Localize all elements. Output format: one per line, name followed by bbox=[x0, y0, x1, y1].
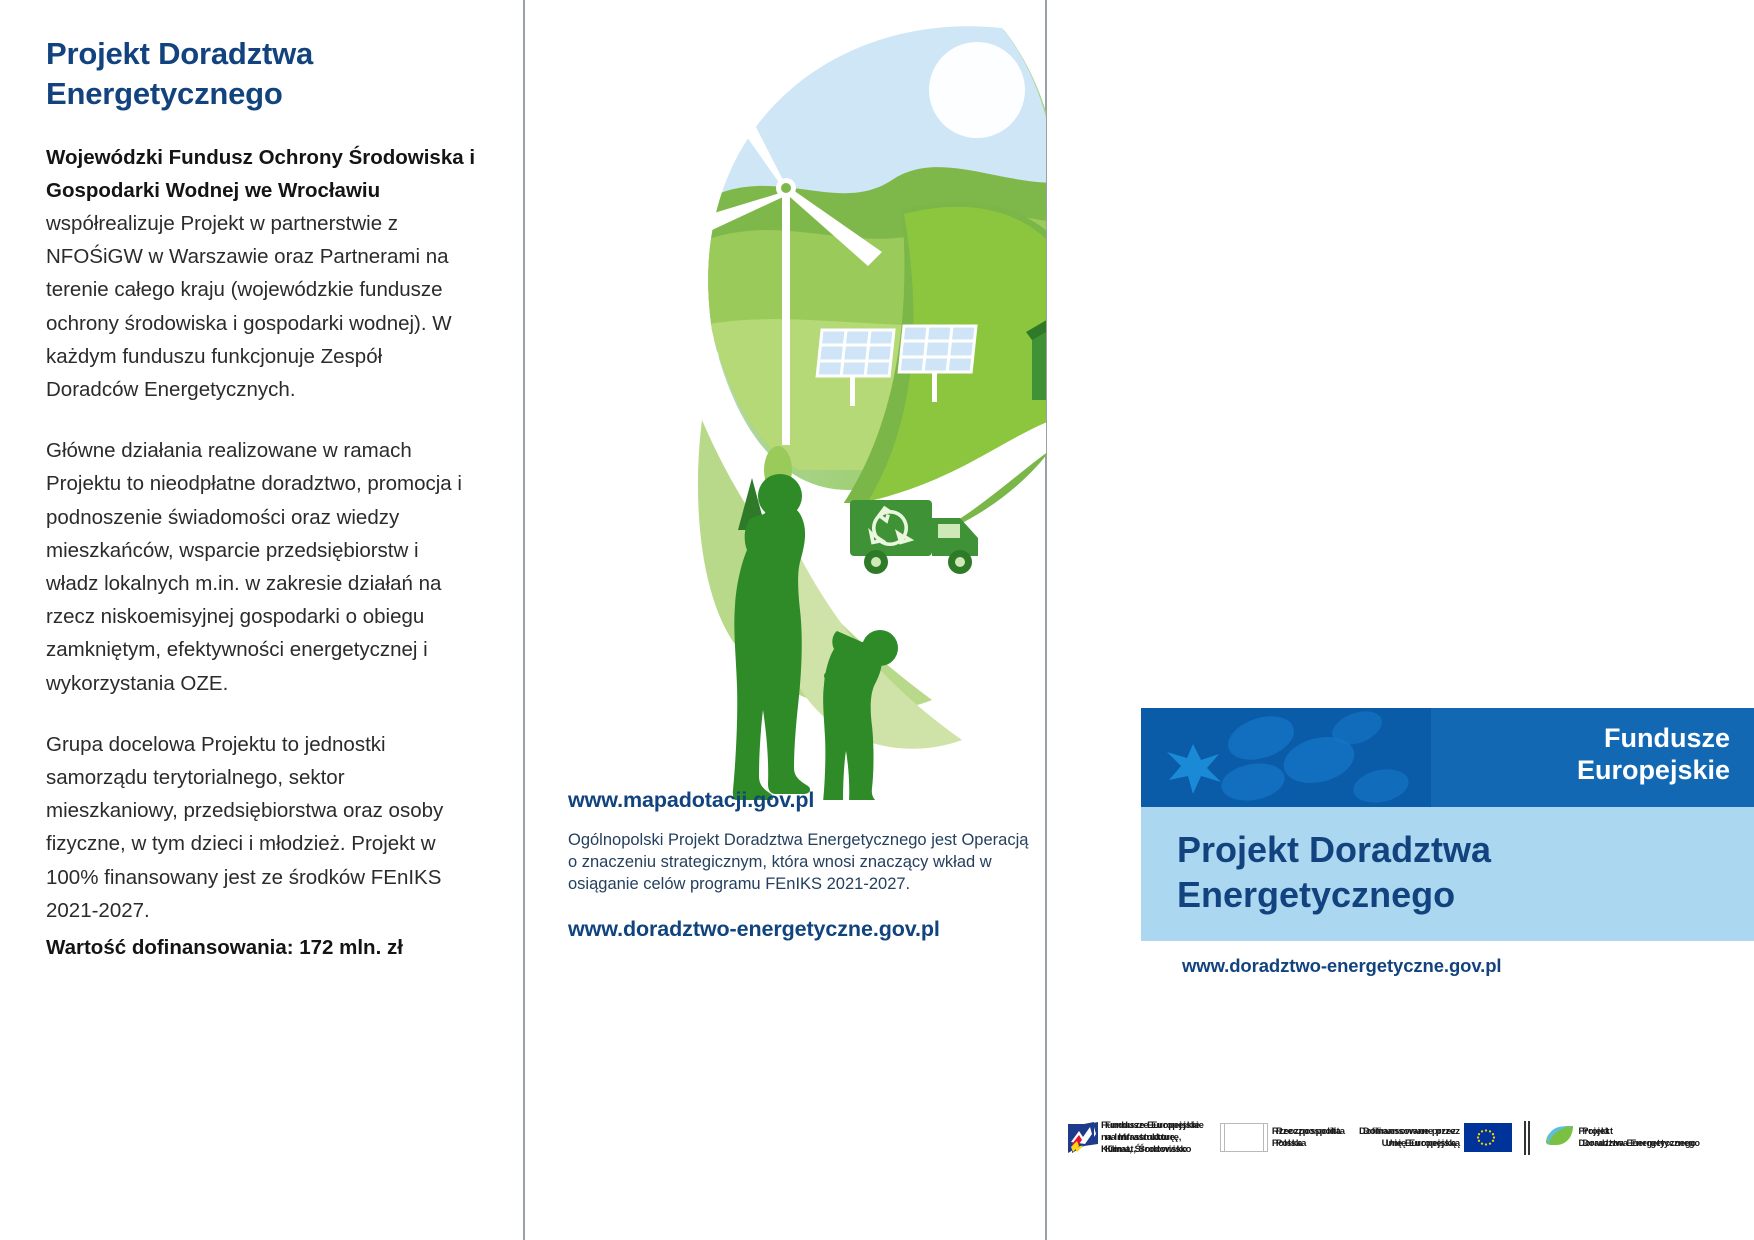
right-column: Fundusze Europejskie Projekt Doradztwa E… bbox=[1047, 0, 1754, 1240]
pde-text-line1-right: Projekt bbox=[1579, 1126, 1610, 1136]
pl-text-line2-right: Polska bbox=[1272, 1138, 1303, 1149]
page-title: Projekt Doradztwa Energetycznego bbox=[46, 34, 476, 115]
logo-pde-text-right: Projekt Doradztwa Energetycznego bbox=[1579, 1126, 1697, 1149]
project-title-line1: Projekt Doradztwa bbox=[1177, 829, 1491, 870]
link-doradztwo-middle[interactable]: www.doradztwo-energetyczne.gov.pl bbox=[568, 917, 1038, 942]
right-logo-strip: Fundusze Europejskie na Infrastrukturę, … bbox=[1068, 1120, 1696, 1155]
banner-title: Fundusze Europejskie bbox=[1577, 723, 1730, 787]
funding-value: Wartość dofinansowania: 172 mln. zł bbox=[46, 931, 476, 964]
paragraph-intro-bold: Wojewódzki Fundusz Ochrony Środowiska i … bbox=[46, 146, 475, 202]
logo-eu-text-right: Dofinansowane przez Unię Europejską bbox=[1359, 1126, 1456, 1150]
middle-column: www.mapadotacji.gov.pl Ogólnopolski Proj… bbox=[524, 0, 1046, 1240]
poland-flag-icon-right bbox=[1220, 1123, 1264, 1152]
paragraph-target-group: Grupa docelowa Projektu to jednostki sam… bbox=[46, 728, 476, 927]
middle-text-block: www.mapadotacji.gov.pl Ogólnopolski Proj… bbox=[568, 788, 1038, 942]
link-mapadotacji[interactable]: www.mapadotacji.gov.pl bbox=[568, 788, 1038, 813]
link-doradztwo-right[interactable]: www.doradztwo-energetyczne.gov.pl bbox=[1182, 955, 1501, 977]
fe-flag-icon-right bbox=[1068, 1122, 1094, 1153]
logo-projekt-doradztwa-right: Projekt Doradztwa Energetycznego bbox=[1542, 1123, 1697, 1153]
paragraph-intro: Wojewódzki Fundusz Ochrony Środowiska i … bbox=[46, 141, 476, 407]
logo-rzeczpospolita-polska-right: Rzeczpospolita Polska bbox=[1220, 1123, 1341, 1152]
eu-flag-icon-right bbox=[1464, 1123, 1508, 1152]
fe-text-line3-right: Klimat, Środowisko bbox=[1101, 1144, 1187, 1155]
paragraph-intro-rest: współrealizuje Projekt w partnerstwie z … bbox=[46, 212, 452, 401]
logo-european-union-right: Dofinansowane przez Unię Europejską bbox=[1359, 1123, 1508, 1152]
fe-text-line1-right: Fundusze Europejskie bbox=[1101, 1120, 1200, 1131]
banner-title-line2: Europejskie bbox=[1577, 755, 1730, 785]
left-column: Projekt Doradztwa Energetycznego Wojewód… bbox=[46, 34, 476, 964]
eu-text-line2-right: Unię Europejską bbox=[1382, 1138, 1456, 1149]
logo-pl-text-right: Rzeczpospolita Polska bbox=[1272, 1126, 1341, 1150]
energy-illustration bbox=[532, 0, 1046, 800]
project-title-line2: Energetycznego bbox=[1177, 874, 1455, 915]
pde-leaf-icon-right bbox=[1542, 1123, 1572, 1153]
fundusze-europejskie-banner: Fundusze Europejskie bbox=[1141, 708, 1754, 807]
fe-text-line2-right: na Infrastrukturę, bbox=[1101, 1132, 1177, 1143]
brochure-page: Projekt Doradztwa Energetycznego Wojewód… bbox=[0, 0, 1754, 1240]
pde-text-line2-right: Doradztwa Energetycznego bbox=[1579, 1138, 1697, 1148]
logo-fe-text-right: Fundusze Europejskie na Infrastrukturę, … bbox=[1101, 1120, 1200, 1155]
pl-text-line1-right: Rzeczpospolita bbox=[1272, 1126, 1341, 1137]
logo-divider-right bbox=[1524, 1121, 1525, 1155]
operation-description: Ogólnopolski Projekt Doradztwa Energetyc… bbox=[568, 830, 1038, 895]
paragraph-activities: Główne działania realizowane w ramach Pr… bbox=[46, 434, 476, 700]
banner-title-line1: Fundusze bbox=[1604, 723, 1730, 753]
project-title: Projekt Doradztwa Energetycznego bbox=[1177, 827, 1491, 918]
project-title-banner: Projekt Doradztwa Energetycznego bbox=[1141, 807, 1754, 941]
logo-fundusze-europejskie-right: Fundusze Europejskie na Infrastrukturę, … bbox=[1068, 1120, 1200, 1155]
eu-text-line1-right: Dofinansowane przez bbox=[1359, 1126, 1456, 1137]
banner-pattern bbox=[1141, 708, 1431, 807]
